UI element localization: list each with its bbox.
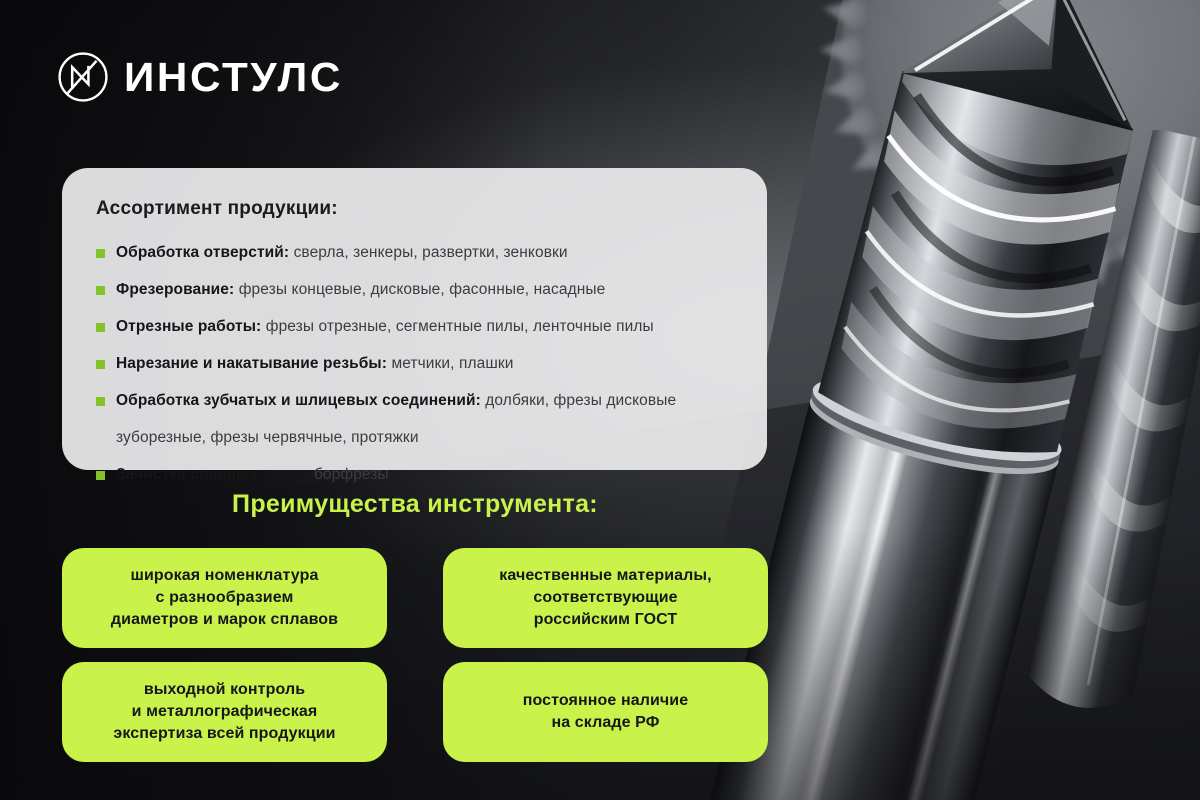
advantage-line: качественные материалы, (499, 565, 711, 587)
advantage-line: с разнообразием (111, 587, 338, 609)
list-item-detail: фрезы концевые, дисковые, фасонные, наса… (234, 281, 605, 298)
green-square-bullet-icon (96, 323, 105, 332)
list-item: Обработка зубчатых и шлицевых соединений… (96, 390, 733, 412)
list-item: Зачистка сварных швов: борфрезы (96, 464, 733, 486)
list-item: Фрезерование: фрезы концевые, дисковые, … (96, 279, 733, 301)
list-item-detail: фрезы отрезные, сегментные пилы, ленточн… (261, 318, 653, 335)
advantage-card-text: постоянное наличие на складе РФ (523, 690, 688, 734)
advantage-card-text: широкая номенклатура с разнообразием диа… (111, 565, 338, 631)
advantage-line: широкая номенклатура (111, 565, 338, 587)
list-item-detail: долбяки, фрезы дисковые (481, 392, 676, 409)
list-item-label: Отрезные работы: (116, 318, 261, 335)
list-item-detail: сверла, зенкеры, развертки, зенковки (289, 244, 568, 261)
green-square-bullet-icon (96, 249, 105, 258)
advantage-line: выходной контроль (113, 679, 335, 701)
assortment-list: Обработка отверстий: сверла, зенкеры, ра… (96, 242, 733, 486)
advantage-card[interactable]: широкая номенклатура с разнообразием диа… (62, 548, 387, 648)
instools-circle-monogram-icon (56, 50, 110, 104)
list-item-label: Зачистка сварных швов: (116, 466, 310, 483)
list-item: Отрезные работы: фрезы отрезные, сегмент… (96, 316, 733, 338)
green-square-bullet-icon (96, 397, 105, 406)
list-item-text: Нарезание и накатывание резьбы: метчики,… (116, 353, 733, 375)
list-item-text: Фрезерование: фрезы концевые, дисковые, … (116, 279, 733, 301)
advantage-line: диаметров и марок сплавов (111, 609, 338, 631)
green-square-bullet-icon (96, 471, 105, 480)
advantage-line: российским ГОСТ (499, 609, 711, 631)
list-item-text: Зачистка сварных швов: борфрезы (116, 464, 733, 486)
assortment-card: Ассортимент продукции: Обработка отверст… (62, 168, 767, 470)
advantages-grid: широкая номенклатура с разнообразием диа… (62, 548, 768, 762)
circular-saw-blade-icon (780, 0, 1200, 330)
advantage-card[interactable]: качественные материалы, соответствующие … (443, 548, 768, 648)
list-item: Нарезание и накатывание резьбы: метчики,… (96, 353, 733, 375)
brand-logo[interactable]: ИНСТУЛС (56, 50, 337, 104)
advantage-card-text: выходной контроль и металлографическая э… (113, 679, 335, 745)
promo-banner: Ассортимент продукции: Обработка отверст… (0, 0, 1200, 800)
list-item-label: Обработка зубчатых и шлицевых соединений… (116, 392, 481, 409)
list-item-detail: борфрезы (310, 466, 389, 483)
advantage-line: постоянное наличие (523, 690, 688, 712)
list-item-detail: метчики, плашки (387, 355, 514, 372)
advantage-card-text: качественные материалы, соответствующие … (499, 565, 711, 631)
brand-name: ИНСТУЛС (124, 57, 343, 98)
assortment-title: Ассортимент продукции: (96, 198, 733, 220)
advantage-card[interactable]: постоянное наличие на складе РФ (443, 662, 768, 762)
list-item-text: Отрезные работы: фрезы отрезные, сегмент… (116, 316, 733, 338)
list-item-label: Фрезерование: (116, 281, 234, 298)
list-item-label: Обработка отверстий: (116, 244, 289, 261)
advantage-line: на складе РФ (523, 712, 688, 734)
advantage-line: соответствующие (499, 587, 711, 609)
list-item-continuation: зуборезные, фрезы червячные, протяжки (96, 427, 733, 449)
advantage-card[interactable]: выходной контроль и металлографическая э… (62, 662, 387, 762)
list-item-text: Обработка отверстий: сверла, зенкеры, ра… (116, 242, 733, 264)
advantages-title: Преимущества инструмента: (62, 490, 768, 519)
advantage-line: и металлографическая (113, 701, 335, 723)
list-item-text: зуборезные, фрезы червячные, протяжки (116, 427, 733, 449)
list-item-label: Нарезание и накатывание резьбы: (116, 355, 387, 372)
advantage-line: экспертиза всей продукции (113, 723, 335, 745)
green-square-bullet-icon (96, 286, 105, 295)
list-item-text: Обработка зубчатых и шлицевых соединений… (116, 390, 733, 412)
list-item: Обработка отверстий: сверла, зенкеры, ра… (96, 242, 733, 264)
list-item-detail: зуборезные, фрезы червячные, протяжки (116, 429, 419, 446)
green-square-bullet-icon (96, 360, 105, 369)
